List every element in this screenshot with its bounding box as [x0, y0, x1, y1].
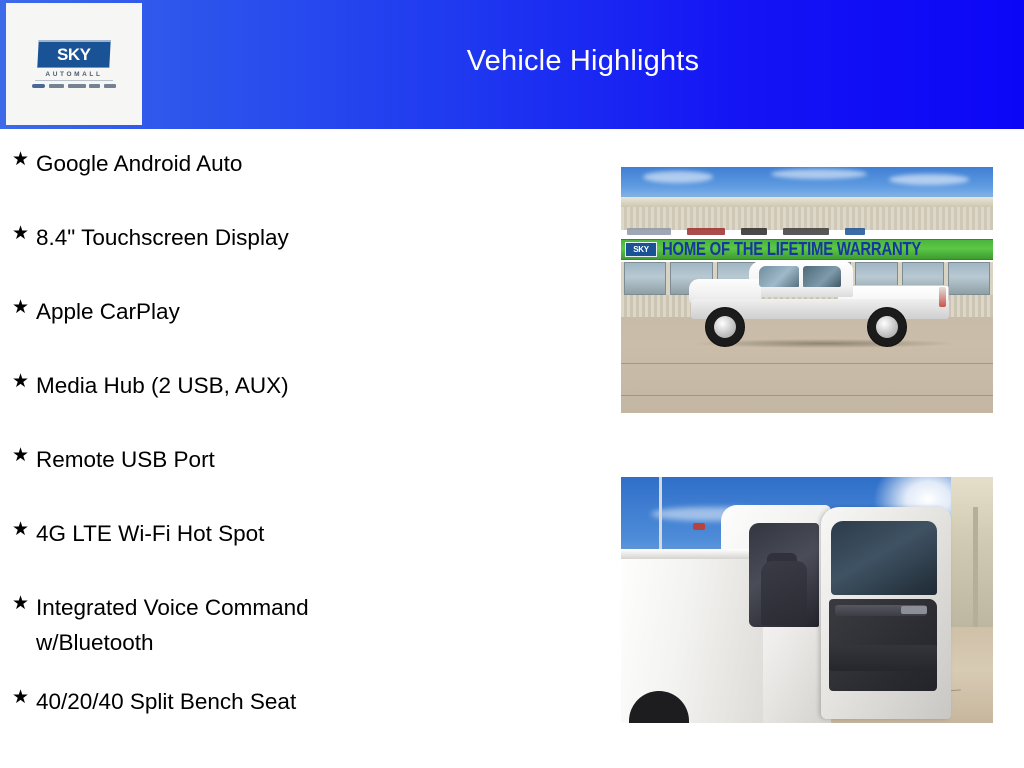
pavement-seam [621, 395, 993, 396]
list-item-label: Apple CarPlay [36, 294, 180, 329]
sky-logo-plate: SKY [37, 40, 110, 68]
list-item-label: 8.4" Touchscreen Display [36, 220, 289, 255]
banner-sky-badge: SKY [625, 242, 657, 257]
brand-sign-dodge-icon [687, 228, 725, 235]
dealership-roofline [621, 197, 993, 207]
cloud-shape [771, 169, 867, 179]
vehicle-interior-photo[interactable] [621, 477, 993, 723]
star-bullet-icon: ★ [12, 590, 36, 617]
showroom-window [624, 262, 666, 295]
star-bullet-icon: ★ [12, 294, 36, 321]
cloud-shape [889, 174, 969, 185]
truck-front-wheel [705, 307, 745, 347]
brand-sign-ram-icon [783, 228, 829, 235]
brand-sign-jeep-icon [741, 228, 767, 235]
list-item-label: 4G LTE Wi-Fi Hot Spot [36, 516, 264, 551]
dealer-brand-signs [621, 225, 993, 237]
truck-rear-window [803, 266, 841, 287]
list-item: ★ Integrated Voice Command w/Bluetooth [0, 590, 600, 660]
list-item: ★ 4G LTE Wi-Fi Hot Spot [0, 516, 600, 566]
truck-rear-wheel [867, 307, 907, 347]
list-item-label: Remote USB Port [36, 442, 215, 477]
list-item-label: Google Android Auto [36, 146, 242, 181]
brand-mark-jeep-icon [89, 84, 100, 88]
door-lower-trim [829, 645, 937, 671]
star-bullet-icon: ★ [12, 368, 36, 395]
brand-mark-dodge-icon [49, 84, 64, 88]
third-brake-light [693, 523, 705, 530]
page-title: Vehicle Highlights [142, 0, 1024, 129]
vehicle-exterior-photo[interactable]: SKY HOME OF THE LIFETIME WARRANTY [621, 167, 993, 413]
canopy-support-post [973, 507, 978, 627]
truck-front-window [759, 266, 799, 287]
brand-sign-chrysler-icon [627, 228, 671, 235]
vehicle-highlights-list: ★ Google Android Auto ★ 8.4" Touchscreen… [0, 146, 600, 758]
list-item: ★ Apple CarPlay [0, 294, 600, 344]
pavement-seam [621, 363, 993, 364]
star-bullet-icon: ★ [12, 516, 36, 543]
showroom-window [948, 262, 990, 295]
automall-logo-text: AUTOMALL [45, 72, 102, 79]
dealer-logo-card[interactable]: SKY AUTOMALL [6, 3, 142, 125]
truck-bed-rail [621, 549, 763, 559]
dealer-logo: SKY AUTOMALL [24, 40, 124, 89]
brand-mark-sky-icon [104, 84, 116, 88]
header-bar: SKY AUTOMALL Vehicle Highlights [0, 0, 1024, 129]
light-pole [659, 477, 662, 551]
dealership-warranty-banner: SKY HOME OF THE LIFETIME WARRANTY [621, 239, 993, 260]
parking-lot-ground [621, 317, 993, 413]
banner-warranty-text: HOME OF THE LIFETIME WARRANTY [662, 240, 921, 259]
wheel-rim [714, 316, 736, 338]
star-bullet-icon: ★ [12, 442, 36, 469]
list-item-label: 40/20/40 Split Bench Seat [36, 684, 296, 719]
list-item: ★ Media Hub (2 USB, AUX) [0, 368, 600, 418]
star-bullet-icon: ★ [12, 220, 36, 247]
list-item: ★ 40/20/40 Split Bench Seat [0, 684, 600, 734]
cloud-shape [643, 171, 713, 183]
list-item-label: Media Hub (2 USB, AUX) [36, 368, 289, 403]
door-window-glass [831, 521, 937, 595]
star-bullet-icon: ★ [12, 146, 36, 173]
wheel-rim [876, 316, 898, 338]
logo-divider [35, 80, 113, 81]
list-item: ★ 8.4" Touchscreen Display [0, 220, 600, 270]
rear-bench-seat [761, 561, 807, 625]
brand-mark-chrysler-icon [32, 84, 45, 88]
star-bullet-icon: ★ [12, 684, 36, 711]
list-item: ★ Remote USB Port [0, 442, 600, 492]
list-item-label: Integrated Voice Command w/Bluetooth [36, 590, 309, 660]
door-pull-handle [901, 606, 927, 614]
sky-logo-text: SKY [57, 46, 90, 63]
brand-sign-sky-icon [845, 228, 865, 235]
dealership-canopy [951, 477, 993, 627]
logo-brand-strip [32, 84, 116, 88]
brand-mark-ram-icon [68, 84, 86, 88]
truck-taillight [939, 287, 946, 307]
list-item: ★ Google Android Auto [0, 146, 600, 196]
